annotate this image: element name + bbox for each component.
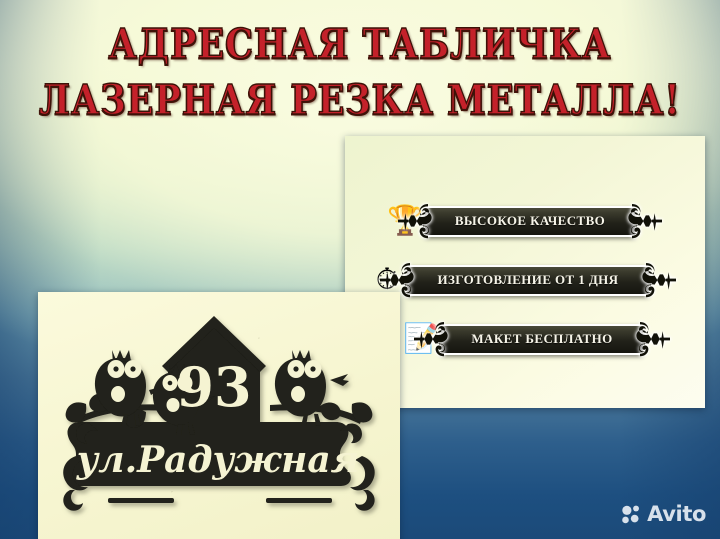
feature-ribbon-mockup: МАКЕТ БЕСПЛАТНО: [441, 324, 643, 355]
feature-label-mockup: МАКЕТ БЕСПЛАТНО: [471, 331, 612, 347]
feature-row-term: ⏱ ИЗГОТОВЛЕНИЕ ОТ 1 ДНЯ: [367, 257, 649, 303]
advert-image: АДРЕСНАЯ ТАБЛИЧКА ЛАЗЕРНАЯ РЕЗКА МЕТАЛЛА…: [0, 0, 720, 539]
scroll-ornament-right-icon: [642, 259, 676, 301]
scroll-ornament-left-icon: [414, 318, 448, 360]
feature-label-quality: ВЫСОКОЕ КАЧЕСТВО: [455, 213, 605, 229]
product-photo-panel: 93 ул.Радужная: [38, 292, 400, 539]
scroll-ornament-right-icon: [628, 200, 662, 242]
feature-label-term: ИЗГОТОВЛЕНИЕ ОТ 1 ДНЯ: [438, 272, 619, 288]
headline-line-2: ЛАЗЕРНАЯ РЕЗКА МЕТАЛЛА!: [0, 74, 720, 128]
plate-house-number: 93: [176, 355, 251, 419]
avito-watermark: Avito: [620, 503, 706, 525]
headline: АДРЕСНАЯ ТАБЛИЧКА ЛАЗЕРНАЯ РЕЗКА МЕТАЛЛА…: [0, 18, 720, 120]
feature-row-mockup: 📝 МАКЕТ БЕСПЛАТНО: [401, 316, 643, 362]
plate-street-name: ул.Радужная: [76, 439, 360, 481]
avito-logo-icon: [620, 503, 642, 525]
scroll-ornament-left-icon: [398, 200, 432, 242]
address-plate-artwork: 93 ул.Радужная: [46, 306, 392, 534]
feature-ribbon-term: ИЗГОТОВЛЕНИЕ ОТ 1 ДНЯ: [407, 265, 649, 296]
feature-row-quality: 🏆 ВЫСОКОЕ КАЧЕСТВО: [385, 198, 635, 244]
feature-ribbon-quality: ВЫСОКОЕ КАЧЕСТВО: [425, 206, 635, 237]
scroll-ornament-right-icon: [636, 318, 670, 360]
headline-line-1: АДРЕСНАЯ ТАБЛИЧКА: [0, 18, 720, 72]
avito-wordmark: Avito: [647, 504, 706, 525]
